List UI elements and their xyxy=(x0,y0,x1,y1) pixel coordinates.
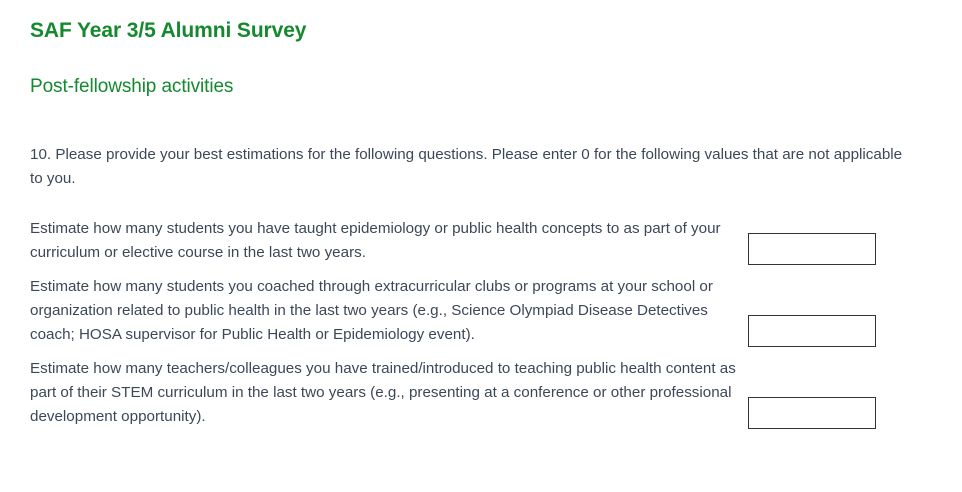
estimate-input-coached-students[interactable] xyxy=(748,315,876,347)
question-item-label: Estimate how many students you have taug… xyxy=(30,217,742,265)
question-item-label: Estimate how many students you coached t… xyxy=(30,275,742,347)
question-item-label: Estimate how many teachers/colleagues yo… xyxy=(30,357,742,429)
question-item-row: Estimate how many students you coached t… xyxy=(30,275,962,347)
question-item-input-cell xyxy=(742,397,876,429)
section-subtitle: Post-fellowship activities xyxy=(30,44,962,99)
estimate-input-taught-students[interactable] xyxy=(748,233,876,265)
question-item-row: Estimate how many teachers/colleagues yo… xyxy=(30,357,962,429)
question-item-input-cell xyxy=(742,315,876,347)
question-item-input-cell xyxy=(742,233,876,265)
survey-page: SAF Year 3/5 Alumni Survey Post-fellowsh… xyxy=(0,0,962,492)
question-intro-text: 10. Please provide your best estimations… xyxy=(30,99,910,191)
estimate-input-trained-teachers[interactable] xyxy=(748,397,876,429)
page-title: SAF Year 3/5 Alumni Survey xyxy=(30,0,962,44)
question-item-row: Estimate how many students you have taug… xyxy=(30,217,962,265)
question-item-list: Estimate how many students you have taug… xyxy=(30,217,962,429)
